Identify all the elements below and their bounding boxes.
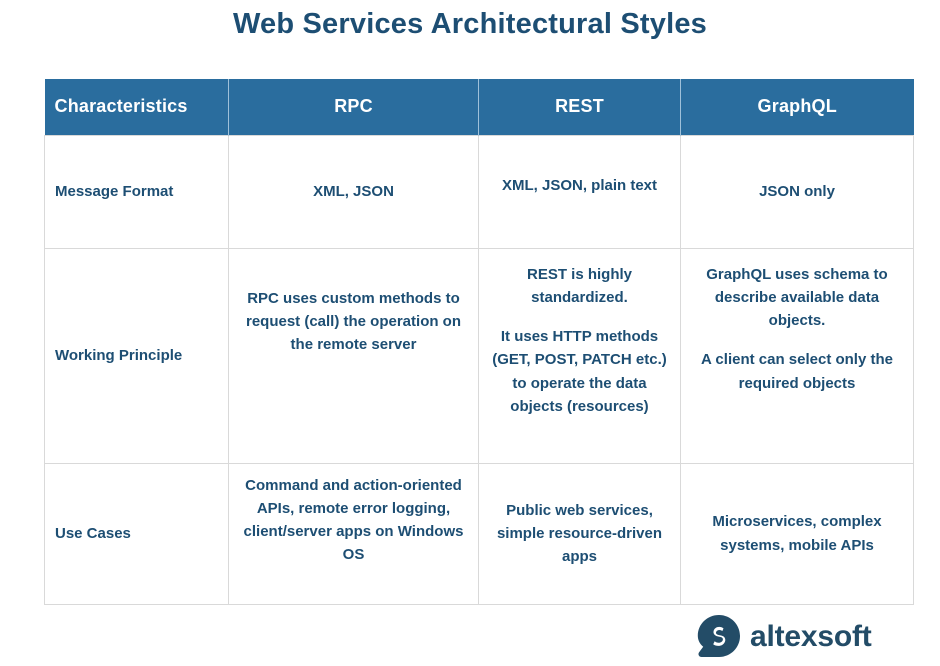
table-row: Use Cases Command and action-oriented AP…	[45, 463, 914, 604]
row-label-message-format: Message Format	[45, 135, 229, 248]
infographic-page: Web Services Architectural Styles Charac…	[0, 0, 940, 666]
cell-use-cases-graphql: Microservices, complex systems, mobile A…	[681, 463, 914, 604]
cell-paragraph: It uses HTTP methods (GET, POST, PATCH e…	[491, 325, 668, 418]
comparison-table: Characteristics RPC REST GraphQL Message…	[44, 79, 914, 605]
altexsoft-logo: altexsoft	[697, 615, 872, 659]
altexsoft-wordmark: altexsoft	[750, 622, 872, 652]
table-row: Working Principle RPC uses custom method…	[45, 248, 914, 463]
cell-working-principle-graphql: GraphQL uses schema to describe availabl…	[681, 248, 914, 463]
cell-message-format-rest: XML, JSON, plain text	[479, 135, 681, 248]
column-header-characteristics: Characteristics	[45, 79, 229, 135]
cell-use-cases-rest: Public web services, simple resource-dri…	[479, 463, 681, 604]
cell-paragraph: GraphQL uses schema to describe availabl…	[693, 263, 901, 333]
cell-message-format-graphql: JSON only	[681, 135, 914, 248]
row-label-use-cases: Use Cases	[45, 463, 229, 604]
cell-use-cases-rpc: Command and action-oriented APIs, remote…	[229, 463, 479, 604]
column-header-rest: REST	[479, 79, 681, 135]
page-title: Web Services Architectural Styles	[0, 8, 940, 41]
table-body: Message Format XML, JSON XML, JSON, plai…	[45, 135, 914, 604]
table-row: Message Format XML, JSON XML, JSON, plai…	[45, 135, 914, 248]
table-header-row: Characteristics RPC REST GraphQL	[45, 79, 914, 135]
column-header-graphql: GraphQL	[681, 79, 914, 135]
table-header: Characteristics RPC REST GraphQL	[45, 79, 914, 135]
row-label-working-principle: Working Principle	[45, 248, 229, 463]
cell-message-format-rpc: XML, JSON	[229, 135, 479, 248]
cell-paragraph: A client can select only the required ob…	[693, 348, 901, 395]
cell-working-principle-rpc: RPC uses custom methods to request (call…	[229, 248, 479, 463]
altexsoft-speech-bubble-icon	[697, 615, 741, 659]
column-header-rpc: RPC	[229, 79, 479, 135]
cell-working-principle-rest: REST is highly standardized. It uses HTT…	[479, 248, 681, 463]
cell-paragraph: REST is highly standardized.	[491, 263, 668, 310]
comparison-table-wrapper: Characteristics RPC REST GraphQL Message…	[44, 79, 913, 605]
